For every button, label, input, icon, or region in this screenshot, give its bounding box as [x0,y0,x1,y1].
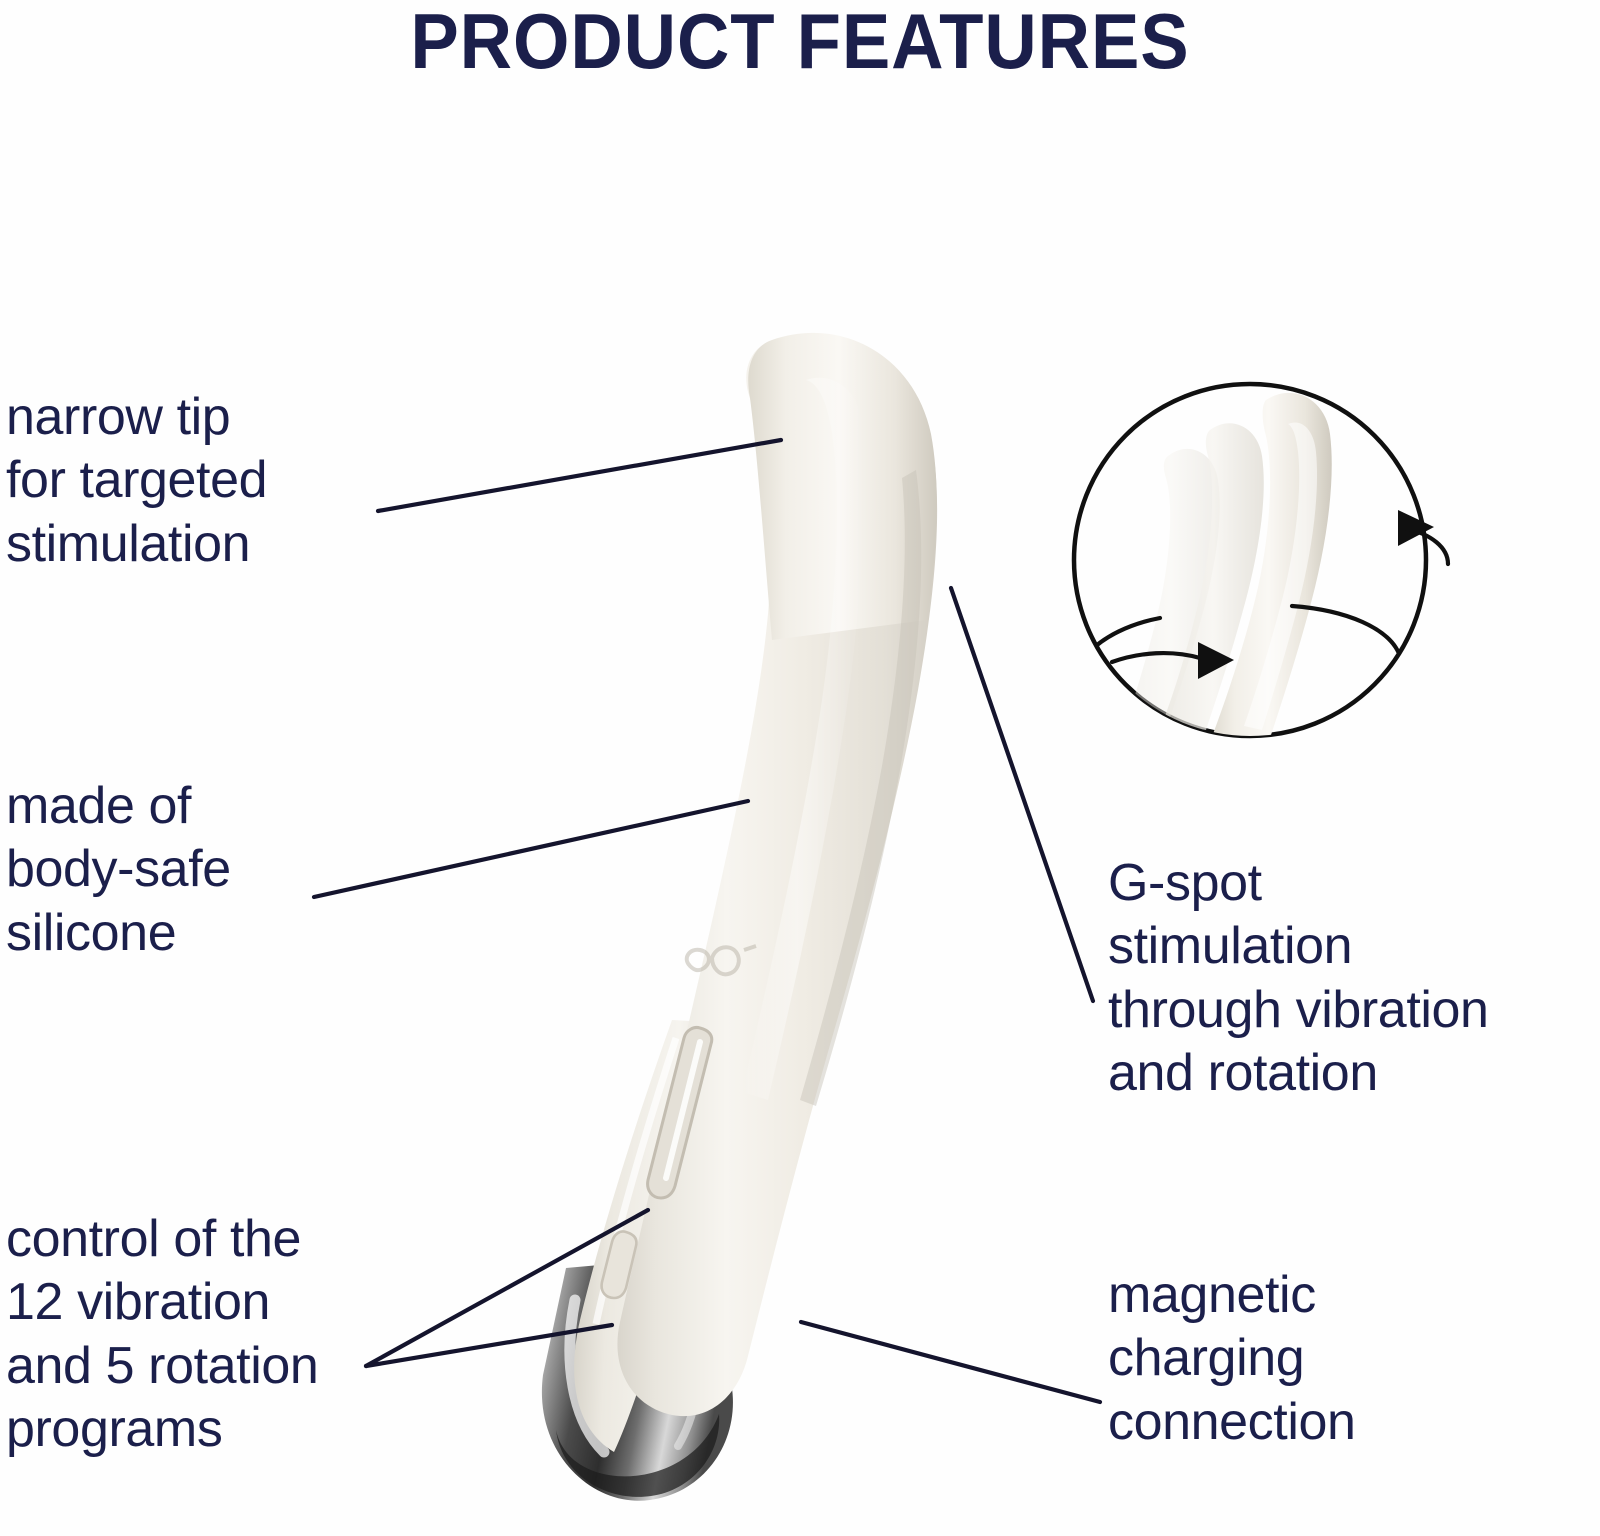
callout-magnetic: magnetic charging connection [1108,1264,1356,1454]
callout-line: silicone [6,902,231,965]
leader-gspot [951,588,1093,1001]
infographic-canvas: PRODUCT FEATURES [0,0,1600,1536]
callout-line: stimulation [6,513,267,576]
callout-line: and rotation [1108,1042,1489,1105]
rotation-inset [1072,384,1448,890]
callout-line: 12 vibration [6,1271,318,1334]
callout-line: programs [6,1398,318,1461]
callout-line: stimulation [1108,915,1489,978]
leader-silicone [314,801,748,897]
leader-narrow-tip [378,440,781,511]
callout-line: narrow tip [6,386,267,449]
callout-silicone: made of body-safe silicone [6,775,231,965]
callout-line: G-spot [1108,852,1489,915]
callout-gspot: G-spot stimulation through vibration and… [1108,852,1489,1106]
callout-line: body-safe [6,838,231,901]
callout-line: connection [1108,1391,1356,1454]
callout-narrow-tip: narrow tip for targeted stimulation [6,386,267,576]
callout-line: charging [1108,1327,1356,1390]
callout-line: for targeted [6,449,267,512]
callout-line: control of the [6,1208,318,1271]
callout-line: made of [6,775,231,838]
leader-magnetic [801,1322,1100,1402]
callout-line: through vibration [1108,979,1489,1042]
callout-line: and 5 rotation [6,1335,318,1398]
callout-line: magnetic [1108,1264,1356,1327]
callout-programs: control of the 12 vibration and 5 rotati… [6,1208,318,1462]
